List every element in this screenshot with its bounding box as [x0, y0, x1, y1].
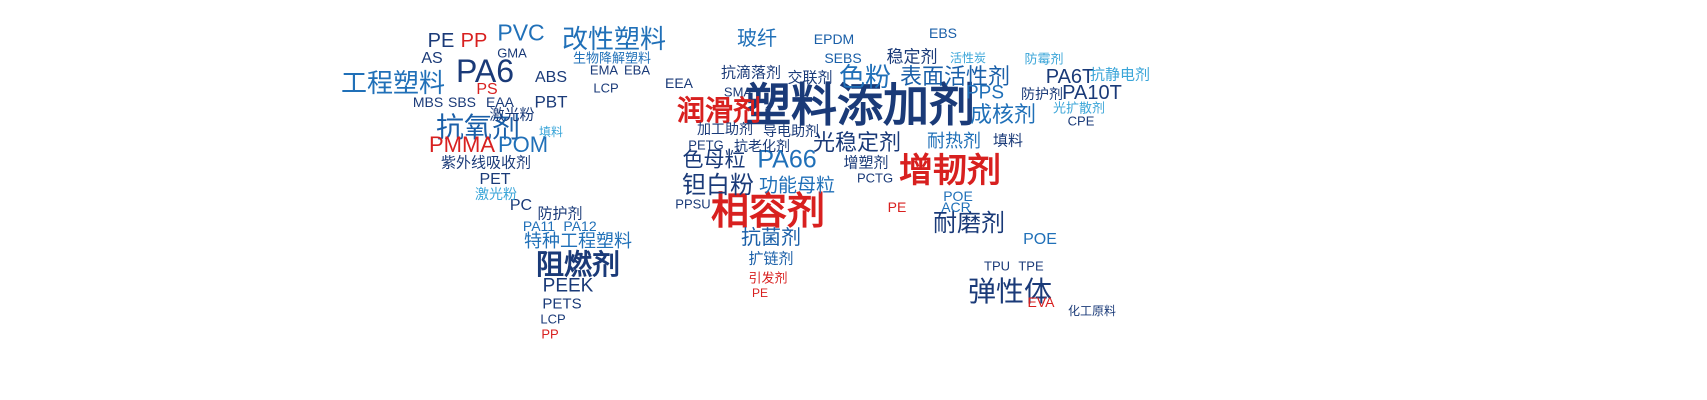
- cloud-word[interactable]: 色粉: [839, 64, 891, 90]
- cloud-word[interactable]: 防霉剂: [1024, 53, 1063, 66]
- cloud-word[interactable]: 增塑剂: [843, 156, 888, 171]
- cloud-word[interactable]: 稳定剂: [887, 49, 938, 66]
- cloud-word[interactable]: 防护剂: [537, 207, 582, 222]
- cloud-word[interactable]: 抗菌剂: [741, 228, 801, 248]
- cloud-word[interactable]: PPSU: [675, 198, 710, 211]
- cloud-word[interactable]: 激光粉: [489, 108, 534, 123]
- cloud-word[interactable]: MBS: [413, 95, 443, 109]
- cloud-word[interactable]: 化工原料: [1068, 305, 1116, 317]
- cloud-word[interactable]: 导电助剂: [763, 124, 819, 138]
- cloud-word[interactable]: 紫外线吸收剂: [441, 156, 531, 171]
- cloud-word[interactable]: PE: [888, 200, 907, 214]
- cloud-word[interactable]: 光扩散剂: [1053, 102, 1105, 115]
- cloud-word[interactable]: ACR: [941, 200, 971, 214]
- cloud-word[interactable]: PETG: [688, 139, 723, 152]
- cloud-word[interactable]: LCP: [593, 82, 618, 95]
- cloud-word[interactable]: SMA: [724, 86, 752, 99]
- cloud-word[interactable]: PMMA: [429, 134, 495, 156]
- cloud-word[interactable]: 功能母粒: [759, 177, 835, 196]
- cloud-word[interactable]: PE: [752, 287, 768, 299]
- cloud-word[interactable]: PP: [461, 31, 488, 51]
- cloud-word[interactable]: 防护剂: [1021, 87, 1063, 101]
- cloud-word[interactable]: POE: [1023, 232, 1057, 248]
- cloud-word[interactable]: 抗滴落剂: [721, 66, 781, 81]
- cloud-word[interactable]: SEBS: [824, 51, 861, 65]
- cloud-word[interactable]: PA6T: [1046, 67, 1095, 87]
- cloud-word[interactable]: 填料: [993, 134, 1023, 149]
- cloud-word[interactable]: CPE: [1068, 115, 1095, 128]
- cloud-word[interactable]: 抗静电剂: [1090, 68, 1150, 83]
- cloud-word[interactable]: TPU: [984, 260, 1010, 273]
- cloud-word[interactable]: TPE: [1018, 260, 1043, 273]
- cloud-word[interactable]: PPS: [966, 84, 1004, 103]
- cloud-word[interactable]: 填料: [539, 126, 563, 138]
- cloud-word[interactable]: 交联剂: [787, 71, 832, 86]
- cloud-word[interactable]: PE: [428, 31, 455, 51]
- cloud-word[interactable]: 扩链剂: [748, 252, 793, 267]
- cloud-word[interactable]: LCP: [540, 313, 565, 326]
- cloud-word[interactable]: 耐磨剂: [933, 212, 1005, 236]
- cloud-word[interactable]: PP: [541, 328, 558, 341]
- cloud-word[interactable]: EVA: [1028, 295, 1055, 309]
- cloud-word[interactable]: 生物降解塑料: [573, 52, 651, 65]
- cloud-word[interactable]: PVC: [497, 22, 544, 45]
- cloud-word[interactable]: PBT: [534, 94, 567, 111]
- cloud-word[interactable]: EEA: [665, 76, 693, 90]
- cloud-word[interactable]: 工程塑料: [341, 70, 445, 96]
- cloud-word[interactable]: 耐热剂: [927, 132, 981, 150]
- cloud-word[interactable]: AS: [421, 51, 442, 67]
- cloud-word[interactable]: ABS: [535, 70, 567, 86]
- cloud-word[interactable]: PEEK: [543, 277, 594, 296]
- cloud-word[interactable]: 活性炭: [950, 52, 986, 64]
- cloud-word[interactable]: 改性塑料: [562, 26, 666, 52]
- cloud-word[interactable]: 加工助剂: [697, 122, 753, 136]
- cloud-word[interactable]: EPDM: [814, 32, 854, 46]
- cloud-word[interactable]: 激光粉: [475, 187, 517, 201]
- cloud-word[interactable]: 成核剂: [970, 104, 1036, 126]
- cloud-word[interactable]: PETS: [542, 297, 581, 312]
- cloud-word[interactable]: 光稳定剂: [813, 132, 901, 154]
- cloud-word[interactable]: SBS: [448, 95, 476, 109]
- cloud-word[interactable]: 抗老化剂: [734, 139, 790, 153]
- word-cloud-canvas: 塑料添加剂相容剂增韧剂润滑剂阻燃剂工程塑料抗氧剂改性塑料表面活性剂光稳定剂弹性体…: [0, 0, 1707, 400]
- cloud-word[interactable]: 钽白粉: [682, 174, 754, 198]
- cloud-word[interactable]: EBS: [929, 26, 957, 40]
- cloud-word[interactable]: 特种工程塑料: [524, 232, 632, 250]
- cloud-word[interactable]: 玻纤: [737, 29, 777, 49]
- cloud-word[interactable]: 引发剂: [748, 272, 787, 285]
- cloud-word[interactable]: 增韧剂: [899, 154, 1001, 188]
- cloud-word[interactable]: GMA: [497, 47, 527, 60]
- cloud-word[interactable]: PCTG: [857, 172, 893, 185]
